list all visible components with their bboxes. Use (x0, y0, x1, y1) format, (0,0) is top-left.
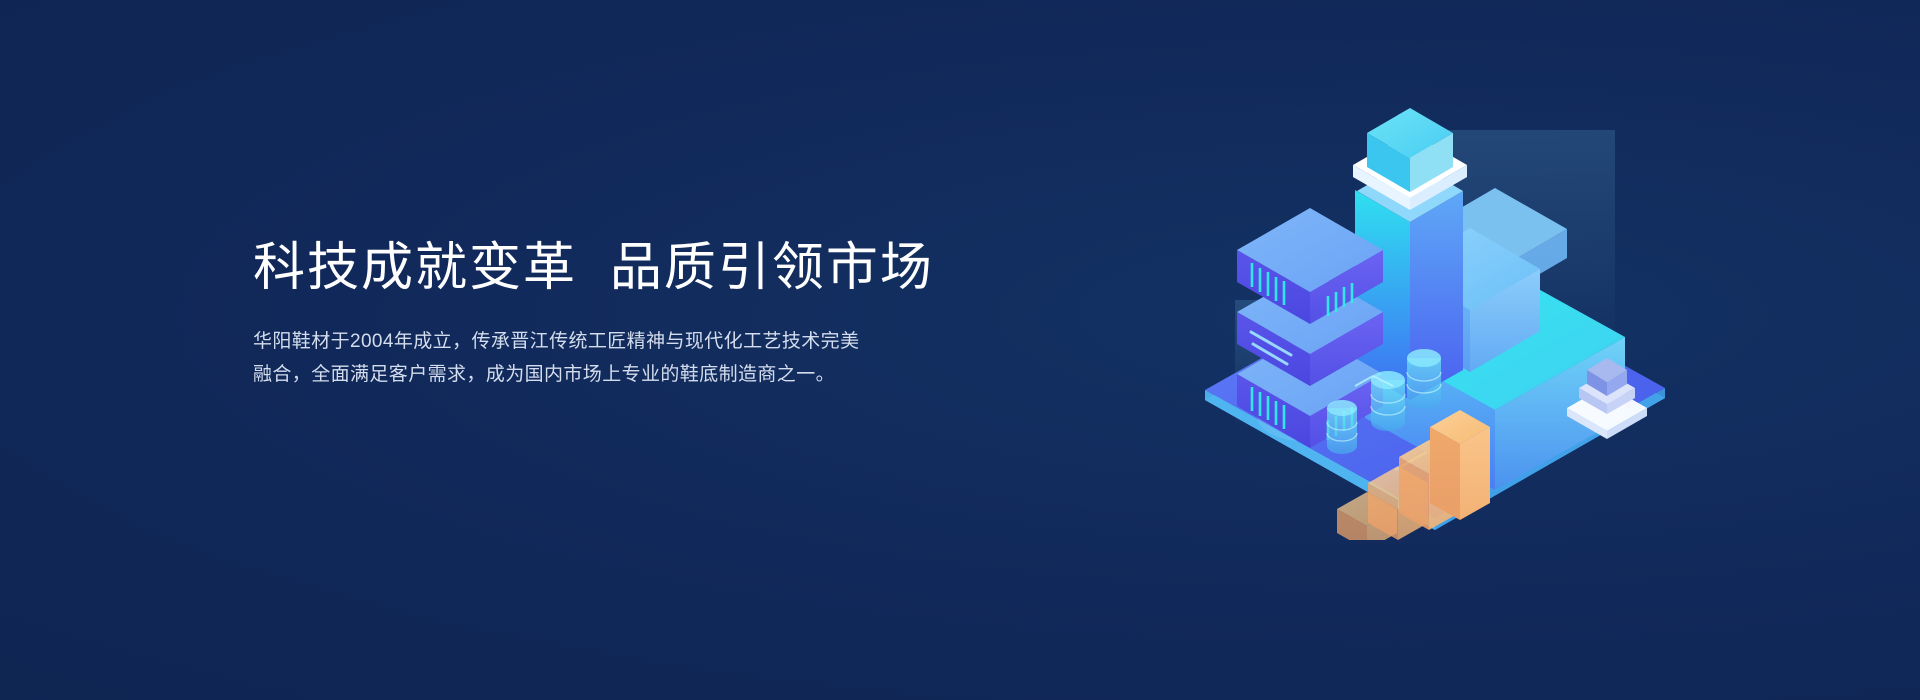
hero-banner: 科技成就变革 品质引领市场 华阳鞋材于2004年成立，传承晋江传统工匠精神与现代… (0, 0, 1920, 700)
hero-copy-block: 科技成就变革 品质引领市场 华阳鞋材于2004年成立，传承晋江传统工匠精神与现代… (253, 238, 953, 391)
hero-description: 华阳鞋材于2004年成立，传承晋江传统工匠精神与现代化工艺技术完美融合，全面满足… (253, 299, 873, 391)
isometric-illustration (1195, 100, 1715, 540)
page-title: 科技成就变革 品质引领市场 (253, 238, 953, 299)
server-rack (1237, 208, 1383, 448)
